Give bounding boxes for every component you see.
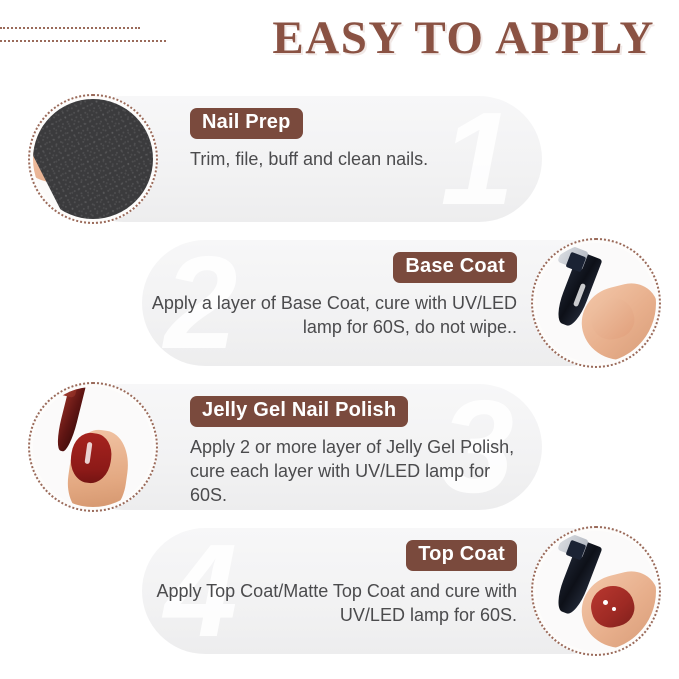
- page-header: EASY TO APPLY: [0, 0, 679, 86]
- step-description: Apply a layer of Base Coat, cure with UV…: [147, 292, 517, 340]
- top-coat-brush-photo: [531, 526, 661, 656]
- page-title: EASY TO APPLY: [272, 11, 655, 65]
- step-content: Base Coat Apply a layer of Base Coat, cu…: [147, 252, 517, 340]
- step-badge: Nail Prep: [190, 108, 303, 139]
- step-description: Apply Top Coat/Matte Top Coat and cure w…: [147, 580, 517, 628]
- step-badge: Jelly Gel Nail Polish: [190, 396, 408, 427]
- step-content: Nail Prep Trim, file, buff and clean nai…: [190, 108, 520, 172]
- dotted-rule-icon: [0, 40, 166, 42]
- step-badge: Base Coat: [393, 252, 517, 283]
- step-description: Apply 2 or more layer of Jelly Gel Polis…: [190, 436, 520, 507]
- step-content: Jelly Gel Nail Polish Apply 2 or more la…: [190, 396, 520, 507]
- step-content: Top Coat Apply Top Coat/Matte Top Coat a…: [147, 540, 517, 628]
- step-item: 2 Base Coat Apply a layer of Base Coat, …: [0, 230, 679, 370]
- dotted-rule-icon: [0, 27, 140, 29]
- nail-file-photo: [28, 94, 158, 224]
- step-item: 3 Jelly Gel Nail Polish Apply 2 or more …: [0, 374, 679, 514]
- base-coat-brush-photo: [531, 238, 661, 368]
- step-item: 1 Nail Prep Trim, file, buff and clean n…: [0, 86, 679, 226]
- nail-file-shape: [33, 99, 153, 219]
- step-description: Trim, file, buff and clean nails.: [190, 148, 520, 172]
- jelly-gel-polish-photo: [28, 382, 158, 512]
- step-badge: Top Coat: [406, 540, 517, 571]
- decorative-dotted-rules: [0, 27, 190, 53]
- steps-list: 1 Nail Prep Trim, file, buff and clean n…: [0, 86, 679, 662]
- step-item: 4 Top Coat Apply Top Coat/Matte Top Coat…: [0, 518, 679, 658]
